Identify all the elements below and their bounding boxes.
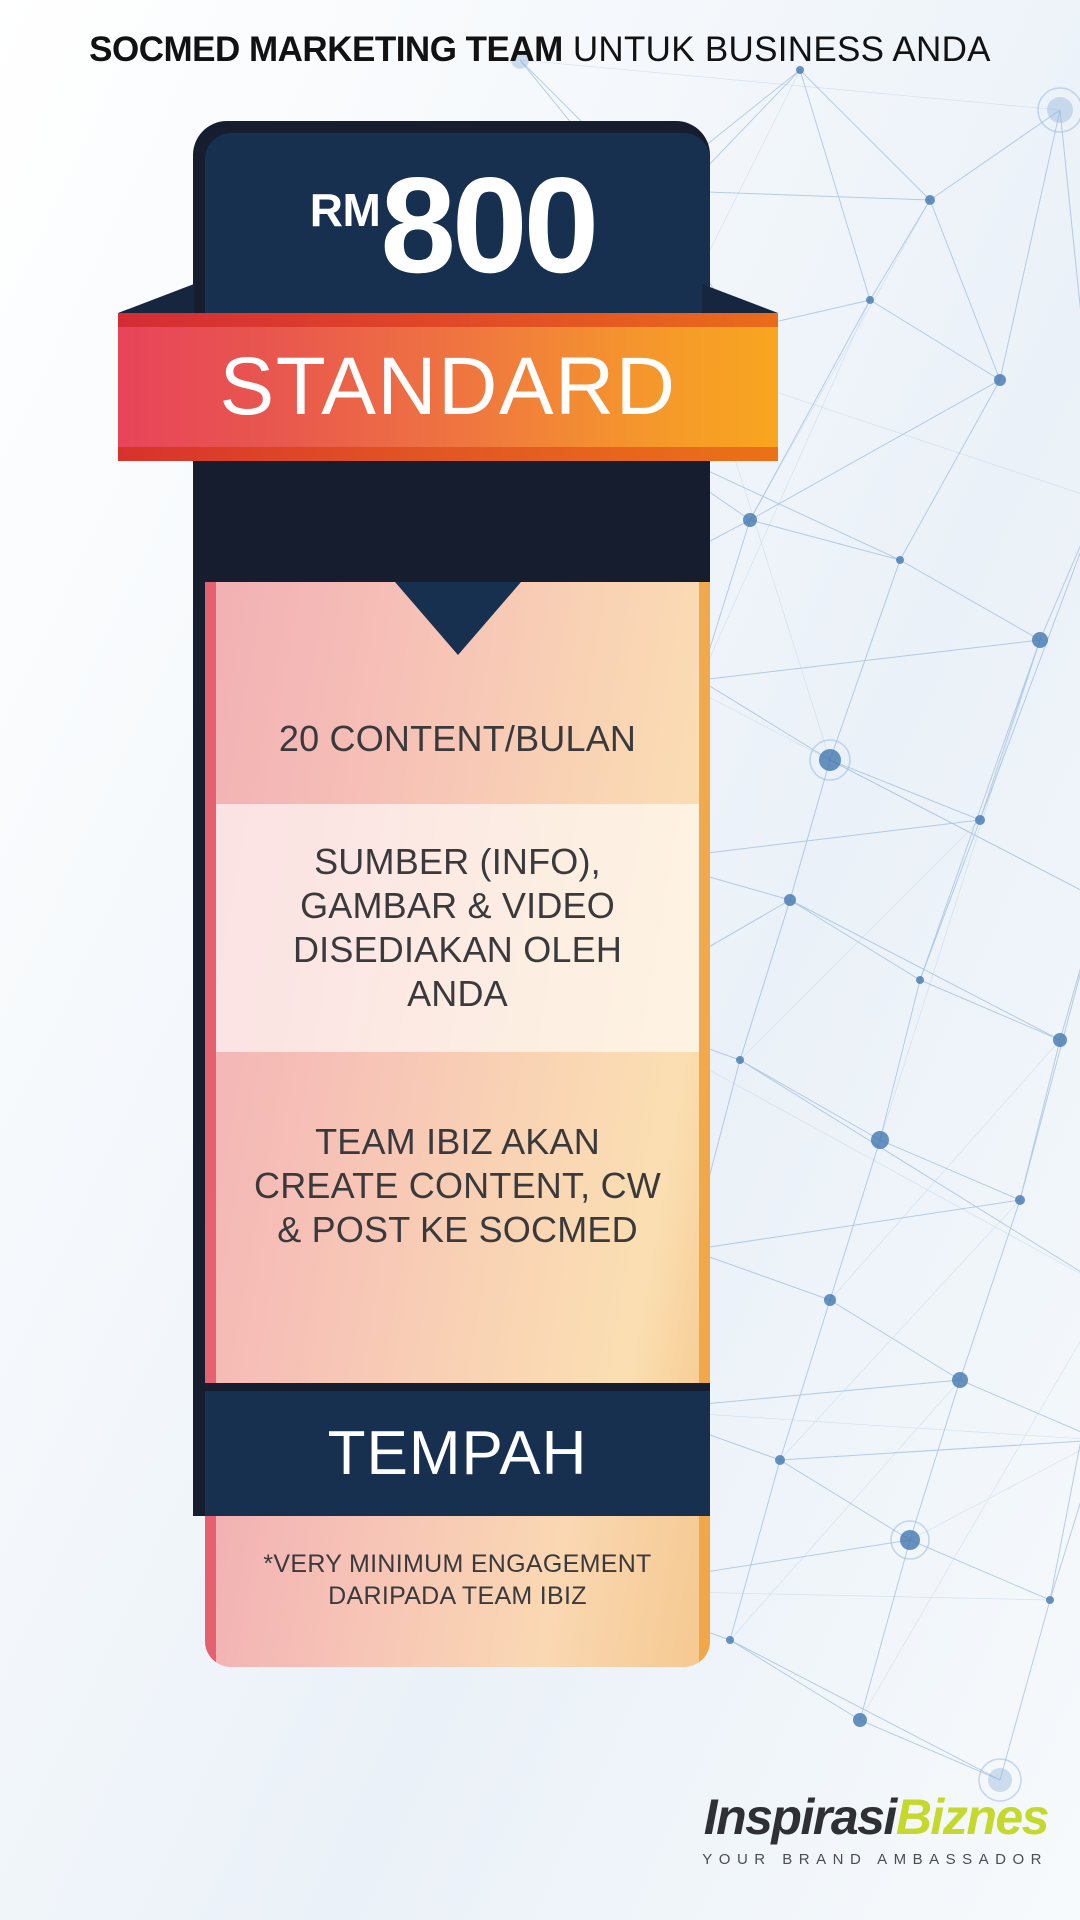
- page-title-strong: SOCMED MARKETING TEAM: [89, 30, 563, 69]
- infographic-page: SOCMED MARKETING TEAM UNTUK BUSINESS AND…: [0, 0, 1080, 1920]
- feature-list: 20 CONTENT/BULAN SUMBER (INFO), GAMBAR &…: [216, 674, 699, 1320]
- price-row: RM 800: [205, 161, 700, 290]
- plan-name: STANDARD: [118, 313, 778, 461]
- footnote-text: *VERY MINIMUM ENGAGEMENT DARIPADA TEAM I…: [223, 1548, 692, 1612]
- card-body: 20 CONTENT/BULAN SUMBER (INFO), GAMBAR &…: [205, 582, 710, 1434]
- ribbon-fold-right-icon: [702, 284, 778, 313]
- body-left-edge: [205, 582, 216, 1434]
- logo-wordmark: InspirasiBiznes: [702, 1792, 1048, 1842]
- page-title: SOCMED MARKETING TEAM UNTUK BUSINESS AND…: [0, 30, 1080, 70]
- logo-name-primary: Inspirasi: [704, 1789, 896, 1845]
- page-title-light: UNTUK BUSINESS ANDA: [563, 30, 991, 69]
- footnote-right-edge: [699, 1516, 710, 1667]
- logo-tagline: YOUR BRAND AMBASSADOR: [702, 1851, 1048, 1868]
- footnote-panel: *VERY MINIMUM ENGAGEMENT DARIPADA TEAM I…: [205, 1516, 710, 1667]
- ribbon-notch-icon: [395, 582, 521, 655]
- feature-item: TEAM IBIZ AKAN CREATE CONTENT, CW & POST…: [216, 1052, 699, 1320]
- cta-wrapper[interactable]: TEMPAH: [193, 1383, 710, 1516]
- brand-logo: InspirasiBiznes YOUR BRAND AMBASSADOR: [702, 1792, 1048, 1868]
- price-amount: 800: [380, 161, 595, 290]
- ribbon-fold-left-icon: [118, 284, 194, 313]
- price-currency: RM: [310, 187, 381, 233]
- feature-item: 20 CONTENT/BULAN: [216, 674, 699, 804]
- body-right-edge: [699, 582, 710, 1434]
- tempah-button[interactable]: TEMPAH: [205, 1391, 710, 1516]
- footnote-left-edge: [205, 1516, 216, 1667]
- plan-ribbon: STANDARD: [118, 313, 778, 461]
- feature-item: SUMBER (INFO), GAMBAR & VIDEO DISEDIAKAN…: [216, 804, 699, 1052]
- logo-name-secondary: Biznes: [896, 1789, 1048, 1845]
